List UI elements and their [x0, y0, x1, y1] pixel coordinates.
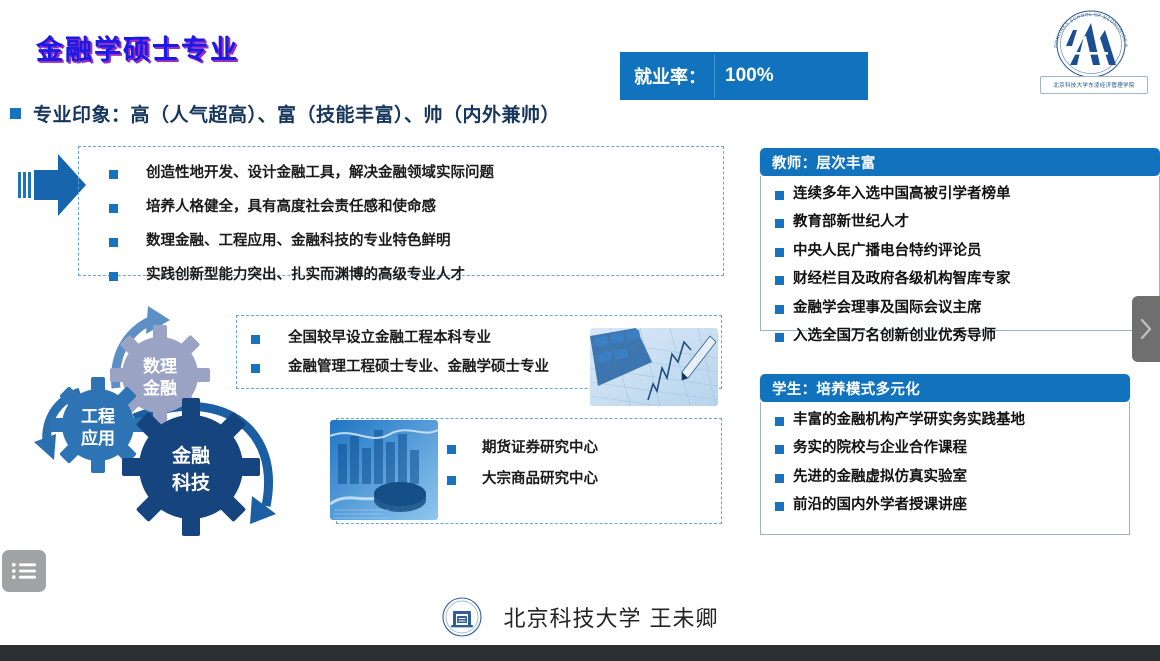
- list-item-label: 数理金融、工程应用、金融科技的专业特色鲜明: [146, 232, 451, 250]
- footer: 北京科技大学 王未卿: [0, 592, 1160, 642]
- teacher-panel-body: 连续多年入选中国高被引学者榜单 教育部新世纪人才 中央人民广播电台特约评论员 财…: [760, 176, 1160, 331]
- list-item-label: 前沿的国内外学者授课讲座: [793, 497, 967, 514]
- teacher-list: 连续多年入选中国高被引学者榜单 教育部新世纪人才 中央人民广播电台特约评论员 财…: [761, 176, 1159, 355]
- bullet-square-icon: [447, 476, 456, 485]
- student-list: 丰富的金融机构产学研实务实践基地 务实的院校与企业合作课程 先进的金融虚拟仿真实…: [761, 402, 1129, 525]
- svg-text:应用: 应用: [81, 428, 115, 449]
- list-item-label: 大宗商品研究中心: [482, 470, 598, 488]
- list-item-label: 先进的金融虚拟仿真实验室: [793, 469, 967, 486]
- next-slide-button[interactable]: [1132, 296, 1160, 362]
- list-item-label: 金融学会理事及国际会议主席: [793, 300, 982, 317]
- svg-text:工程: 工程: [81, 407, 115, 427]
- bottom-bar: [0, 645, 1160, 661]
- menu-button[interactable]: [2, 550, 46, 592]
- bullet-square-icon: [775, 219, 784, 228]
- list-item-label: 教育部新世纪人才: [793, 214, 909, 231]
- student-panel-header: 学生：培养模式多元化: [760, 374, 1130, 402]
- list-item-label: 丰富的金融机构产学研实务实践基地: [793, 412, 1025, 429]
- subtitle-text: 专业印象：高（人气超高）、富（技能丰富）、帅（内外兼帅）: [33, 100, 560, 127]
- bullet-square-icon: [775, 333, 784, 342]
- main-bullet-list: 创造性地开发、设计金融工具，解决金融领域实际问题 培养人格健全，具有高度社会责任…: [109, 164, 723, 285]
- bullet-square-icon: [109, 170, 118, 179]
- bullet-square-icon: [251, 364, 260, 373]
- list-item: 实践创新型能力突出、扎实而渊博的高级专业人才: [109, 266, 723, 284]
- list-item: 数理金融、工程应用、金融科技的专业特色鲜明: [109, 232, 723, 250]
- page-title: 金融学硕士专业: [36, 28, 239, 67]
- list-item-label: 实践创新型能力突出、扎实而渊博的高级专业人才: [146, 266, 465, 284]
- chevron-right-icon[interactable]: [1139, 318, 1153, 340]
- bullet-square-icon: [775, 305, 784, 314]
- university-seal-icon: [442, 597, 482, 637]
- bullet-square-icon: [775, 417, 784, 426]
- subtitle-row: 专业印象：高（人气超高）、富（技能丰富）、帅（内外兼帅）: [10, 100, 560, 127]
- employment-rate-label: 就业率：: [634, 63, 706, 89]
- data-visualization-photo: [330, 420, 438, 520]
- footer-text: 北京科技大学 王未卿: [504, 601, 719, 633]
- list-item: 中央人民广播电台特约评论员: [775, 243, 1159, 260]
- main-bullets-box: 创造性地开发、设计金融工具，解决金融领域实际问题 培养人格健全，具有高度社会责任…: [78, 146, 724, 276]
- teacher-panel-header: 教师：层次丰富: [760, 148, 1160, 176]
- list-item: 务实的院校与企业合作课程: [775, 440, 1129, 457]
- bullet-square-icon: [109, 238, 118, 247]
- bullet-square-icon: [109, 204, 118, 213]
- list-item: 连续多年入选中国高被引学者榜单: [775, 186, 1159, 203]
- slide-canvas: 金融学硕士专业 专业印象：高（人气超高）、富（技能丰富）、帅（内外兼帅） 就业率…: [0, 0, 1160, 661]
- research-center-list: 期货证券研究中心 大宗商品研究中心: [447, 439, 721, 488]
- bar-chart-3d-image: [330, 420, 438, 520]
- bullet-square-icon: [775, 474, 784, 483]
- bullet-square-icon: [775, 276, 784, 285]
- list-item-label: 期货证券研究中心: [482, 439, 598, 457]
- finance-chart-photo: [590, 328, 718, 406]
- logo-caption: 北京科技大学东凌经济管理学院: [1040, 76, 1148, 94]
- svg-text:金融: 金融: [142, 378, 177, 399]
- list-item: 教育部新世纪人才: [775, 214, 1159, 231]
- list-item-label: 财经栏目及政府各级机构智库专家: [793, 271, 1011, 288]
- bullet-square-icon: [775, 445, 784, 454]
- list-item: 财经栏目及政府各级机构智库专家: [775, 271, 1159, 288]
- bullet-square-icon: [775, 191, 784, 200]
- list-item: 丰富的金融机构产学研实务实践基地: [775, 412, 1129, 429]
- badge-divider: [714, 54, 715, 98]
- bullet-square-icon: [775, 248, 784, 257]
- list-item-label: 金融管理工程硕士专业、金融学硕士专业: [288, 358, 549, 376]
- svg-text:金融: 金融: [171, 444, 210, 467]
- list-item: 先进的金融虚拟仿真实验室: [775, 469, 1129, 486]
- list-item: 金融学会理事及国际会议主席: [775, 300, 1159, 317]
- student-panel: 学生：培养模式多元化 丰富的金融机构产学研实务实践基地 务实的院校与企业合作课程…: [760, 374, 1130, 535]
- list-item: 前沿的国内外学者授课讲座: [775, 497, 1129, 514]
- gear-3: 金融 科技: [122, 398, 260, 536]
- svg-text:数理: 数理: [143, 356, 177, 377]
- list-item-label: 务实的院校与企业合作课程: [793, 440, 967, 457]
- teacher-panel: 教师：层次丰富 连续多年入选中国高被引学者榜单 教育部新世纪人才 中央人民广播电…: [760, 148, 1160, 331]
- list-item: 期货证券研究中心: [447, 439, 721, 457]
- list-item-label: 连续多年入选中国高被引学者榜单: [793, 186, 1011, 203]
- bullet-square-icon: [251, 335, 260, 344]
- employment-rate-value: 100%: [725, 65, 774, 87]
- bullet-square-icon: [10, 108, 21, 119]
- list-item-label: 全国较早设立金融工程本科专业: [288, 329, 491, 347]
- seal-emblem-icon: DONLINKS SCHOOL OF ECONOMICS & MANAGEMEN…: [1048, 8, 1134, 78]
- school-logo: DONLINKS SCHOOL OF ECONOMICS & MANAGEMEN…: [1040, 8, 1146, 96]
- bullet-square-icon: [109, 272, 118, 281]
- list-item: 培养人格健全，具有高度社会责任感和使命感: [109, 198, 723, 216]
- list-item-label: 入选全国万名创新创业优秀导师: [793, 328, 996, 345]
- list-item-label: 培养人格健全，具有高度社会责任感和使命感: [146, 198, 436, 216]
- list-item: 创造性地开发、设计金融工具，解决金融领域实际问题: [109, 164, 723, 182]
- calculator-chart-image: [590, 328, 718, 406]
- list-icon[interactable]: [12, 562, 36, 580]
- list-item-label: 中央人民广播电台特约评论员: [793, 243, 982, 260]
- bullet-square-icon: [447, 445, 456, 454]
- svg-text:科技: 科技: [172, 471, 211, 494]
- student-panel-body: 丰富的金融机构产学研实务实践基地 务实的院校与企业合作课程 先进的金融虚拟仿真实…: [760, 402, 1130, 535]
- list-item: 入选全国万名创新创业优秀导师: [775, 328, 1159, 345]
- student-panel-title: 学生：培养模式多元化: [772, 378, 920, 399]
- list-item-label: 创造性地开发、设计金融工具，解决金融领域实际问题: [146, 164, 494, 182]
- bullet-square-icon: [775, 502, 784, 511]
- list-item: 大宗商品研究中心: [447, 470, 721, 488]
- employment-rate-badge: 就业率： 100%: [620, 52, 868, 100]
- teacher-panel-title: 教师：层次丰富: [772, 152, 876, 173]
